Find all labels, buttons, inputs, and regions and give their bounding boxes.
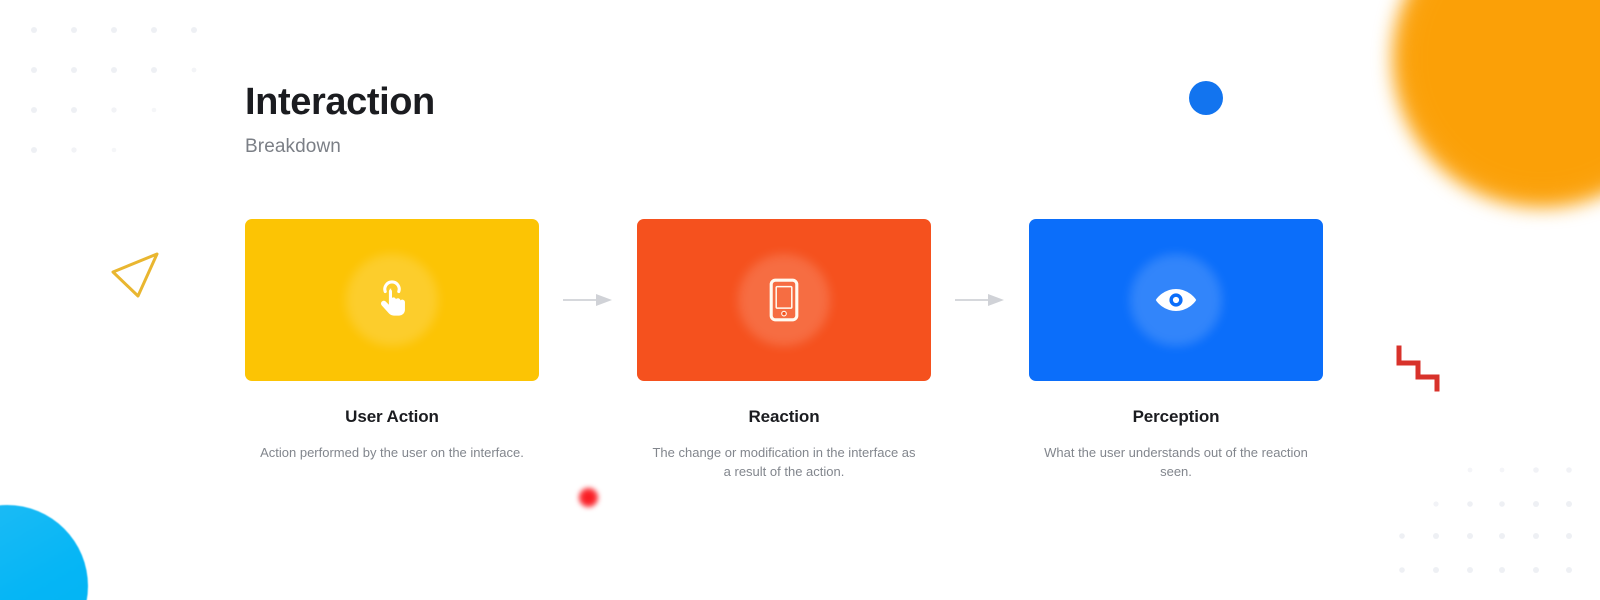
flow-connector-1: [539, 219, 637, 381]
arrow-right-icon: [562, 293, 614, 307]
step-title: User Action: [245, 407, 539, 427]
step-description: The change or modification in the interf…: [637, 443, 931, 481]
tap-hand-icon: [369, 277, 415, 323]
step-card-perception[interactable]: [1029, 219, 1323, 381]
flow-step-perception: Perception What the user understands out…: [1029, 219, 1323, 481]
page-subtitle: Breakdown: [245, 134, 435, 160]
page-title: Interaction: [245, 78, 435, 126]
step-card-user-action[interactable]: [245, 219, 539, 381]
dot-grid-top-left-icon: [22, 22, 242, 172]
flow-step-reaction: Reaction The change or modification in t…: [637, 219, 931, 481]
header: Interaction Breakdown: [245, 78, 435, 160]
arrow-right-icon: [954, 293, 1006, 307]
step-title: Reaction: [637, 407, 931, 427]
eye-icon: [1153, 277, 1199, 323]
step-description: What the user understands out of the rea…: [1029, 443, 1323, 481]
flow-connector-2: [931, 219, 1029, 381]
yellow-triangle-icon: [108, 250, 164, 300]
flow-step-user-action: User Action Action performed by the user…: [245, 219, 539, 462]
red-zigzag-icon: [1392, 344, 1454, 392]
step-title: Perception: [1029, 407, 1323, 427]
step-description: Action performed by the user on the inte…: [245, 443, 539, 462]
orange-blob-shape: [1392, 0, 1600, 208]
blue-dot-shape: [1189, 81, 1223, 115]
step-card-reaction[interactable]: [637, 219, 931, 381]
interaction-flow: User Action Action performed by the user…: [245, 219, 1323, 481]
red-dot-shape: [578, 487, 599, 508]
cyan-circle-shape: [0, 505, 88, 600]
dot-grid-bottom-right-icon: [1356, 446, 1600, 600]
slide-canvas: Interaction Breakdown User Action Action…: [0, 0, 1600, 600]
smartphone-icon: [761, 277, 807, 323]
